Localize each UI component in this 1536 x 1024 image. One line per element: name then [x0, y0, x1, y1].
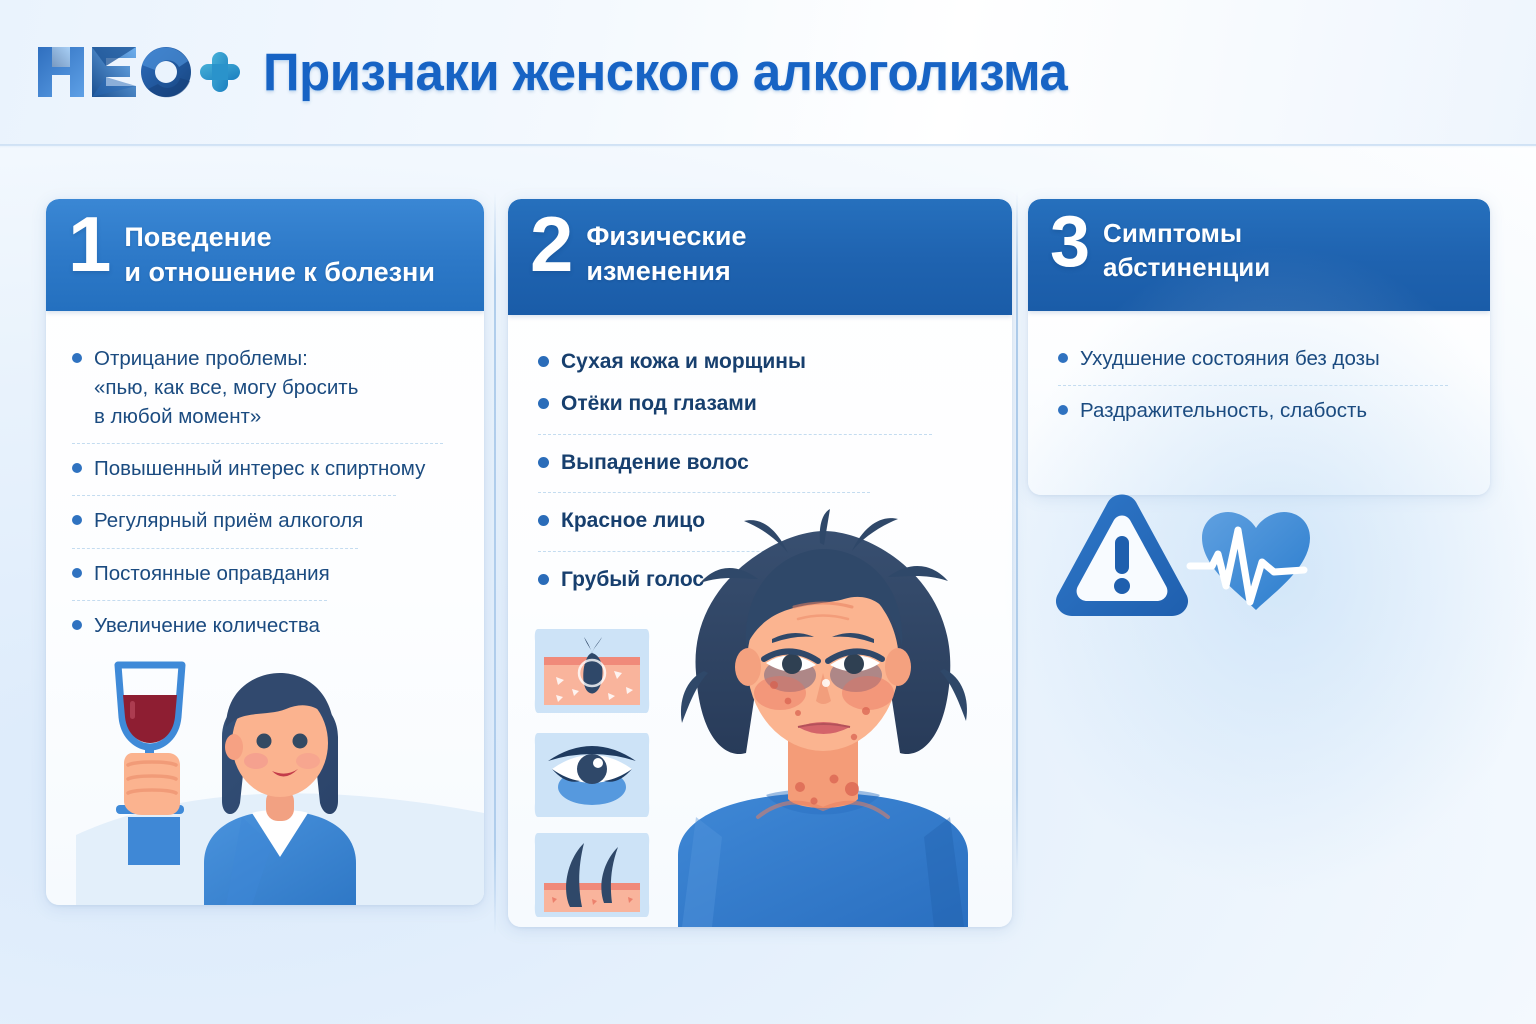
symptom-text: Увеличение количества	[94, 611, 320, 640]
symptom-list-3: Ухудшение состояния без дозы Раздражител…	[1058, 341, 1464, 428]
card-number-3: 3	[1050, 213, 1087, 272]
item-separator	[538, 492, 870, 493]
item-separator	[1058, 385, 1448, 386]
symptom-line-sub2: в любой момент»	[94, 402, 358, 431]
list-item[interactable]: Красное лицо	[538, 500, 986, 552]
list-item[interactable]: Увеличение количества	[72, 608, 458, 643]
warning-and-heartbeat-illustration	[1050, 476, 1340, 656]
card-number-2: 2	[530, 213, 570, 277]
bullet-icon	[538, 398, 549, 409]
bullet-icon	[538, 457, 549, 468]
card-physical-changes[interactable]: 2 Физические изменения Сухая кожа и морщ…	[508, 199, 1012, 927]
list-item[interactable]: Отёки под глазами	[538, 383, 986, 435]
symptom-text: Регулярный приём алкоголя	[94, 506, 363, 535]
list-item[interactable]: Выпадение волос	[538, 442, 986, 494]
hair-loss-icon	[535, 833, 649, 917]
symptom-text: Отёки под глазами	[561, 389, 757, 419]
bullet-icon	[1058, 405, 1068, 415]
card-title-3-line2: абстиненции	[1103, 251, 1270, 285]
bullet-icon	[72, 515, 82, 525]
card-title-1-line2: и отношение к болезни	[124, 255, 435, 290]
symptom-text: Отрицание проблемы: «пью, как все, могу …	[94, 344, 358, 431]
symptom-text: Раздражительность, слабость	[1080, 396, 1367, 425]
symptom-text: Красное лицо	[561, 506, 705, 536]
card-title-3: Симптомы абстиненции	[1103, 215, 1270, 285]
bullet-icon	[538, 515, 549, 526]
list-item[interactable]: Сухая кожа и морщины	[538, 341, 986, 383]
symptom-icon-tiles	[522, 621, 662, 921]
symptom-text: Выпадение волос	[561, 448, 749, 478]
bullet-icon	[538, 574, 549, 585]
list-item[interactable]: Повышенный интерес к спиртному	[72, 451, 458, 496]
item-separator	[72, 600, 327, 601]
list-item[interactable]: Постоянные оправдания	[72, 556, 458, 601]
card-title-1: Поведение и отношение к болезни	[124, 215, 435, 290]
symptom-text: Постоянные оправдания	[94, 559, 330, 588]
item-separator	[72, 495, 396, 496]
card-header-3: 3 Симптомы абстиненции	[1028, 199, 1490, 311]
bullet-icon	[72, 353, 82, 363]
symptom-text: Сухая кожа и морщины	[561, 347, 806, 377]
card-title-2-line2: изменения	[586, 254, 746, 289]
symptom-text: Грубый голос	[561, 565, 704, 595]
bullet-icon	[72, 568, 82, 578]
card-divider-2	[1016, 192, 1018, 872]
woman-with-wine-glass-illustration	[76, 605, 484, 905]
card-divider-1	[494, 192, 496, 934]
list-item[interactable]: Ухудшение состояния без дозы	[1058, 341, 1464, 386]
card-body-3: Ухудшение состояния без дозы Раздражител…	[1028, 311, 1490, 428]
item-separator	[72, 443, 443, 444]
symptom-list-2: Сухая кожа и морщины Отёки под глазами	[538, 341, 986, 601]
card-header-1: 1 Поведение и отношение к болезни	[46, 199, 484, 311]
card-behaviour[interactable]: 1 Поведение и отношение к болезни Отрица…	[46, 199, 484, 905]
bullet-icon	[1058, 353, 1068, 363]
cards-row: 1 Поведение и отношение к болезни Отрица…	[0, 146, 1536, 1024]
neo-plus-logo	[36, 39, 241, 105]
heart-pulse-icon	[1190, 512, 1310, 610]
item-separator	[538, 434, 932, 435]
bullet-icon	[72, 620, 82, 630]
symptom-list-1: Отрицание проблемы: «пью, как все, могу …	[72, 341, 458, 643]
symptom-text: Повышенный интерес к спиртному	[94, 454, 425, 483]
item-separator	[72, 548, 358, 549]
list-item[interactable]: Раздражительность, слабость	[1058, 393, 1464, 428]
card-body-1: Отрицание проблемы: «пью, как все, могу …	[46, 311, 484, 643]
page-header: Признаки женского алкоголизма	[0, 0, 1536, 146]
list-item[interactable]: Регулярный приём алкоголя	[72, 503, 458, 548]
infographic-page: Признаки женского алкоголизма 1 Поведени…	[0, 0, 1536, 1024]
bullet-icon	[538, 356, 549, 367]
list-item[interactable]: Грубый голос	[538, 559, 986, 601]
card-title-2-line1: Физические	[586, 219, 746, 254]
symptom-line-main: Отрицание проблемы:	[94, 347, 308, 370]
eye-bag-icon	[535, 733, 649, 817]
item-separator	[538, 551, 834, 552]
card-header-2: 2 Физические изменения	[508, 199, 1012, 315]
page-title: Признаки женского алкоголизма	[263, 42, 1067, 103]
card-number-1: 1	[68, 213, 108, 277]
warning-triangle-icon	[1056, 495, 1188, 617]
card-title-2: Физические изменения	[586, 215, 746, 289]
bullet-icon	[72, 463, 82, 473]
symptom-text: Ухудшение состояния без дозы	[1080, 344, 1380, 373]
card-title-3-line1: Симптомы	[1103, 217, 1270, 251]
list-item[interactable]: Отрицание проблемы: «пью, как все, могу …	[72, 341, 458, 444]
card-body-2: Сухая кожа и морщины Отёки под глазами	[508, 315, 1012, 601]
card-withdrawal-symptoms[interactable]: 3 Симптомы абстиненции Ухудшение состоян…	[1028, 199, 1490, 495]
skin-pore-icon	[535, 629, 649, 713]
card-title-1-line1: Поведение	[124, 220, 435, 255]
symptom-line-sub1: «пью, как все, могу бросить	[94, 373, 358, 402]
